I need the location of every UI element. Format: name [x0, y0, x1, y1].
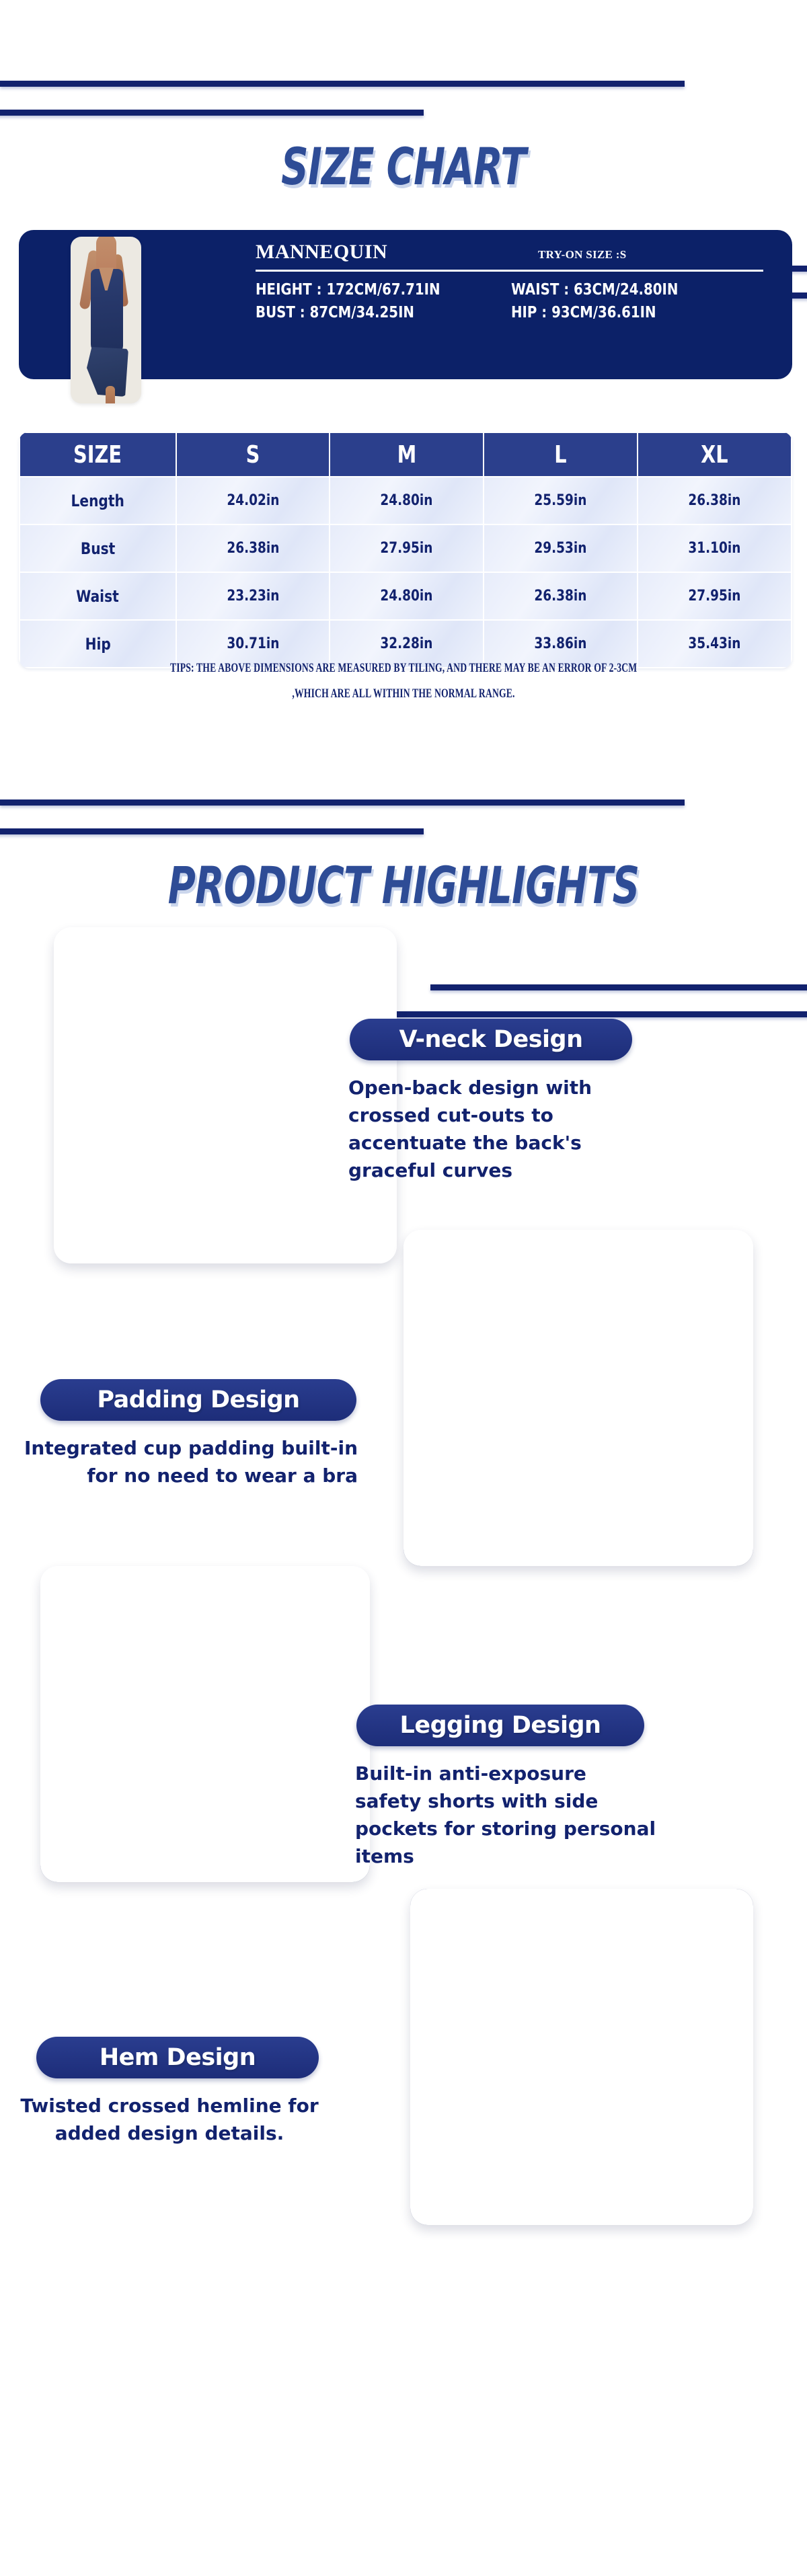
- feature-title-pill-padding: Padding Design: [40, 1379, 356, 1421]
- size-chart-title: SIZE CHART: [105, 140, 702, 194]
- feature-legging: Legging Design Built-in anti-exposure sa…: [0, 1586, 807, 1916]
- product-highlights-banner: PRODUCT HIGHLIGHTS: [0, 719, 807, 921]
- cell-length-xl: 26.38in: [638, 477, 792, 524]
- feature-text-vneck: Open-back design with crossed cut-outs t…: [348, 1074, 652, 1184]
- col-header-s: S: [176, 432, 330, 477]
- model-leg: [106, 386, 115, 403]
- tips-line-1: TIPS: THE ABOVE DIMENSIONS ARE MEASURED …: [170, 656, 637, 681]
- table-row: Length 24.02in 24.80in 25.59in 26.38in: [20, 477, 792, 524]
- cell-bust-m: 27.95in: [330, 524, 484, 572]
- model-figure: [79, 237, 132, 403]
- cup-padding-photo: [403, 1230, 753, 1566]
- cell-bust-l: 29.53in: [484, 524, 638, 572]
- measurement-hip: HIP : 93CM/36.61IN: [511, 301, 731, 324]
- size-table-wrap: SIZE S M L XL Length 24.02in 24.80in 25.…: [0, 424, 807, 656]
- mannequin-model-photo: [71, 237, 141, 403]
- mannequin-info: MANNEQUIN TRY-ON SIZE :S HEIGHT : 172CM/…: [256, 241, 767, 324]
- cell-waist-m: 24.80in: [330, 572, 484, 620]
- size-chart-banner: SIZE CHART: [0, 0, 807, 202]
- measurement-tips: TIPS: THE ABOVE DIMENSIONS ARE MEASURED …: [0, 656, 807, 707]
- feature-vneck: V-neck Design Open-back design with cros…: [0, 921, 807, 1270]
- cell-length-s: 24.02in: [176, 477, 330, 524]
- mannequin-divider: [256, 270, 763, 272]
- banner-line-top-short: [0, 828, 424, 834]
- tips-line-2: ,WHICH ARE ALL WITHIN THE NORMAL RANGE.: [292, 681, 514, 707]
- banner-line-top-long: [0, 81, 685, 87]
- banner-line-top-short: [0, 110, 424, 116]
- cell-bust-xl: 31.10in: [638, 524, 792, 572]
- crossed-back-garment-photo: [54, 927, 397, 1263]
- measurement-waist: WAIST : 63CM/24.80IN: [511, 278, 731, 301]
- mannequin-card-wrap: MANNEQUIN TRY-ON SIZE :S HEIGHT : 172CM/…: [0, 202, 807, 424]
- feature-hem: Hem Design Twisted crossed hemline for a…: [0, 1916, 807, 2252]
- feature-title-pill-vneck: V-neck Design: [350, 1019, 632, 1060]
- size-table: SIZE S M L XL Length 24.02in 24.80in 25.…: [19, 432, 792, 668]
- table-row: Bust 26.38in 27.95in 29.53in 31.10in: [20, 524, 792, 572]
- cell-waist-l: 26.38in: [484, 572, 638, 620]
- feature-text-padding: Integrated cup padding built-in for no n…: [24, 1434, 358, 1489]
- row-label: Waist: [20, 572, 176, 620]
- cell-waist-s: 23.23in: [176, 572, 330, 620]
- feature-text-legging: Built-in anti-exposure safety shorts wit…: [355, 1760, 659, 1870]
- col-header-size: SIZE: [20, 432, 176, 477]
- side-pocket-shorts-photo: [40, 1566, 370, 1882]
- table-row: Waist 23.23in 24.80in 26.38in 27.95in: [20, 572, 792, 620]
- feature-text-hem: Twisted crossed hemline for added design…: [20, 2092, 319, 2147]
- try-on-size: TRY-ON SIZE :S: [538, 248, 626, 262]
- row-label: Bust: [20, 524, 176, 572]
- table-header-row: SIZE S M L XL: [20, 432, 792, 477]
- feature-title-pill-legging: Legging Design: [356, 1705, 644, 1746]
- measurement-bust: BUST : 87CM/34.25IN: [256, 301, 475, 324]
- col-header-m: M: [330, 432, 484, 477]
- row-label: Length: [20, 477, 176, 524]
- measurement-height: HEIGHT : 172CM/67.71IN: [256, 278, 475, 301]
- cell-length-l: 25.59in: [484, 477, 638, 524]
- banner-line-top-long: [0, 799, 685, 806]
- twisted-hemline-photo: [410, 1889, 753, 2225]
- cell-waist-xl: 27.95in: [638, 572, 792, 620]
- mannequin-heading: MANNEQUIN: [256, 241, 538, 264]
- cell-length-m: 24.80in: [330, 477, 484, 524]
- product-highlights-title: PRODUCT HIGHLIGHTS: [105, 859, 702, 912]
- feature-title-pill-hem: Hem Design: [36, 2037, 319, 2078]
- col-header-xl: XL: [638, 432, 792, 477]
- size-chart-page: SIZE CHART MANNEQUIN TRY-ON SIZE :S HEI: [0, 0, 807, 2576]
- mannequin-measurements: HEIGHT : 172CM/67.71IN WAIST : 63CM/24.8…: [256, 278, 767, 324]
- cell-bust-s: 26.38in: [176, 524, 330, 572]
- feature-padding: Padding Design Integrated cup padding bu…: [0, 1270, 807, 1586]
- col-header-l: L: [484, 432, 638, 477]
